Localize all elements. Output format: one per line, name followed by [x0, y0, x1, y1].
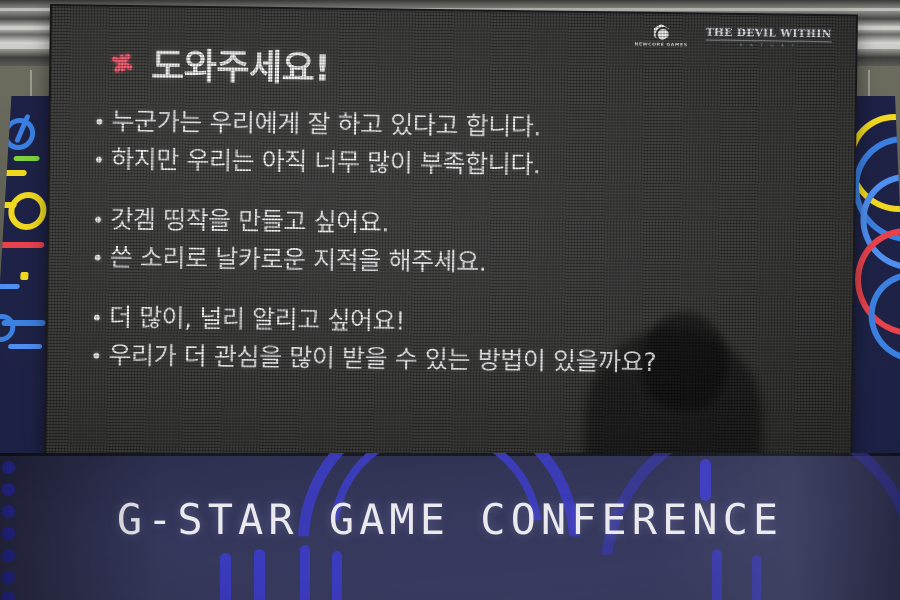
- bullet-group: 더 많이, 널리 알리고 싶어요! 우리가 더 관심을 많이 받을 수 있는 방…: [93, 301, 812, 382]
- the-devil-within-logo: THE DEVIL WITHIN S A T G A T: [706, 26, 832, 48]
- decor-circle: [7, 192, 47, 230]
- newcore-games-logo: NEWCORE GAMES: [634, 24, 687, 49]
- bullet-group: 누군가는 우리에게 잘 하고 있다고 합니다. 하지만 우리는 아직 너무 많이…: [96, 105, 815, 186]
- hexagon-ring-icon: [653, 24, 670, 41]
- led-presentation-screen: NEWCORE GAMES THE DEVIL WITHIN S A T G A…: [46, 6, 856, 468]
- slide-title-row: 도와주세요!: [109, 37, 331, 92]
- list-item: 누군가는 우리에게 잘 하고 있다고 합니다.: [96, 105, 814, 149]
- bullet-dot-icon: [93, 352, 99, 358]
- conference-photo-stage: NEWCORE GAMES THE DEVIL WITHIN S A T G A…: [0, 0, 900, 600]
- slide-bullet-list: 누군가는 우리에게 잘 하고 있다고 합니다. 하지만 우리는 아직 너무 많이…: [93, 105, 814, 385]
- bullet-text: 쓴 소리로 날카로운 지적을 해주세요.: [109, 240, 486, 279]
- slide-logos: NEWCORE GAMES THE DEVIL WITHIN S A T G A…: [634, 24, 831, 51]
- decor-line: [332, 551, 342, 600]
- page-title: 도와주세요!: [151, 37, 331, 91]
- bullet-dot-icon: [95, 254, 101, 260]
- bullet-text: 누군가는 우리에게 잘 하고 있다고 합니다.: [111, 105, 541, 145]
- conference-banner: G-STAR GAME CONFERENCE: [0, 453, 900, 600]
- decor-line: [752, 555, 761, 600]
- decor-line: [254, 549, 265, 600]
- decor-line: [1, 320, 45, 326]
- bullet-dot-icon: [94, 315, 100, 321]
- bullet-text: 더 많이, 널리 알리고 싶어요!: [109, 301, 405, 339]
- bullet-text: 하지만 우리는 아직 너무 많이 부족합니다.: [111, 142, 541, 182]
- red-asterisk-icon: [109, 50, 135, 76]
- decor-line: [8, 344, 42, 349]
- bullet-text: 우리가 더 관심을 많이 받을 수 있는 방법이 있을까요?: [108, 338, 656, 380]
- decor-line: [220, 553, 231, 600]
- decor-line: [13, 156, 39, 161]
- list-item: 하지만 우리는 아직 너무 많이 부족합니다.: [96, 142, 814, 186]
- bullet-dot-icon: [95, 217, 101, 223]
- list-item: 갓겜 띵작을 만들고 싶어요.: [95, 203, 813, 247]
- decor-line: [712, 549, 722, 600]
- decor-circle: [0, 314, 16, 342]
- conference-banner-title: G-STAR GAME CONFERENCE: [0, 495, 900, 544]
- the-devil-within-subtitle: S A T G A T: [740, 42, 797, 48]
- decor-line: [300, 545, 310, 600]
- list-item: 더 많이, 널리 알리고 싶어요!: [94, 301, 812, 345]
- decor-line: [0, 242, 44, 248]
- newcore-games-logo-label: NEWCORE GAMES: [634, 43, 687, 49]
- bullet-text: 갓겜 띵작을 만들고 싶어요.: [110, 203, 389, 241]
- the-devil-within-title: THE DEVIL WITHIN: [706, 26, 832, 40]
- decor-line: [0, 284, 20, 289]
- bullet-group: 갓겜 띵작을 만들고 싶어요. 쓴 소리로 날카로운 지적을 해주세요.: [94, 203, 813, 284]
- list-item: 우리가 더 관심을 많이 받을 수 있는 방법이 있을까요?: [93, 338, 811, 382]
- decor-dash: [20, 272, 28, 280]
- bullet-dot-icon: [96, 156, 102, 162]
- list-item: 쓴 소리로 날카로운 지적을 해주세요.: [94, 240, 812, 284]
- decor-arc: [352, 551, 618, 600]
- bullet-dot-icon: [96, 119, 102, 125]
- decor-arc: [392, 575, 580, 600]
